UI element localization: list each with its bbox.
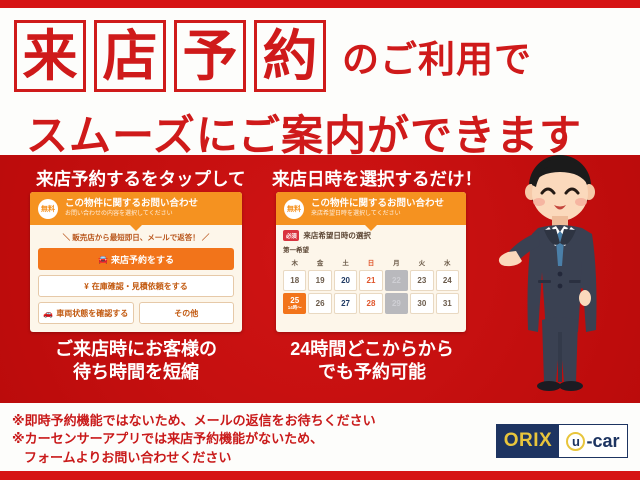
ucar-wordmark: u -car [559, 425, 627, 457]
calendar-day-number: 21 [367, 277, 376, 285]
calendar-body: 必須 来店希望日時の選択 第一希望 木金土日月火水181920212223242… [276, 225, 466, 314]
free-badge: 無料 [38, 199, 58, 219]
reserve-visit-button[interactable]: 🚘 来店予約をする [38, 248, 234, 270]
right-caption-line-2: でも予約可能 [262, 361, 482, 384]
calendar-day-cell[interactable]: 28 [359, 293, 382, 314]
inquiry-form-header: 無料 この物件に関するお問い合わせ お問い合わせの内容を選択してください [30, 192, 242, 225]
stock-quote-button-label: 在庫確認・見積依頼をする [92, 281, 188, 292]
calendar-day-number: 19 [316, 277, 325, 285]
calendar-day-cell[interactable]: 2514時〜 [283, 293, 306, 314]
calendar-day-number: 29 [392, 300, 401, 308]
calendar-day-number: 23 [417, 277, 426, 285]
headline-tail: のご利用で [342, 29, 532, 83]
calendar-weekday: 火 [410, 257, 433, 268]
free-badge: 無料 [284, 199, 304, 219]
top-red-rule [0, 0, 640, 8]
footer-note-line-2: ※カーセンサーアプリでは来店予約機能がないため、 [12, 430, 452, 448]
calendar-form-subtitle: 来店希望日時を選択してください [311, 211, 444, 218]
headline-row-1: 来 店 予 約 のご利用で [14, 20, 532, 92]
check-vehicle-condition-label: 車両状態を確認する [56, 308, 128, 319]
calendar-form-header-text: この物件に関するお問い合わせ 来店希望日時を選択してください [311, 199, 444, 218]
left-panel-heading: 来店予約するをタップして [36, 166, 245, 191]
footer-note-line-1: ※即時予約機能ではないため、メールの返信をお待ちください [12, 412, 452, 430]
visit-reservation-banner: 来 店 予 約 のご利用で スムーズにご案内ができます 来店予約するをタップして… [0, 0, 640, 480]
right-caption: 24時間どこからから でも予約可能 [262, 338, 482, 384]
calendar-weekday: 月 [385, 257, 408, 268]
inquiry-form-title: この物件に関するお問い合わせ [65, 199, 198, 210]
calendar-form-title: この物件に関するお問い合わせ [311, 199, 444, 210]
calendar-day-number: 26 [316, 300, 325, 308]
kanji-box-4: 約 [254, 20, 326, 92]
left-caption: ご来店時にお客様の 待ち時間を短縮 [16, 338, 256, 384]
kanji-box-1: 来 [14, 20, 86, 92]
calendar-grid: 木金土日月火水181920212223242514時〜262728293031 [283, 257, 459, 314]
kanji-box-3: 予 [174, 20, 246, 92]
calendar-day-cell[interactable]: 30 [410, 293, 433, 314]
other-button[interactable]: その他 [139, 302, 235, 324]
car-icon: 🚘 [98, 255, 108, 264]
calendar-day-cell[interactable]: 19 [308, 270, 331, 291]
calendar-mockup: 無料 この物件に関するお問い合わせ 来店希望日時を選択してください 必須 来店希… [276, 192, 466, 332]
kanji-box-2: 店 [94, 20, 166, 92]
calendar-section-title: 必須 来店希望日時の選択 [283, 230, 459, 241]
required-badge: 必須 [283, 230, 299, 241]
calendar-weekday: 日 [359, 257, 382, 268]
calendar-weekday: 木 [283, 257, 306, 268]
right-caption-line-1: 24時間どこからから [262, 338, 482, 361]
calendar-day-number: 25 [290, 297, 299, 305]
left-caption-line-2: 待ち時間を短縮 [16, 361, 256, 384]
calendar-day-number: 27 [341, 300, 350, 308]
inquiry-form-header-text: この物件に関するお問い合わせ お問い合わせの内容を選択してください [65, 199, 198, 218]
check-vehicle-condition-button[interactable]: 🚗 車両状態を確認する [38, 302, 134, 324]
yen-icon: ¥ [84, 282, 88, 291]
footer-note: ※即時予約機能ではないため、メールの返信をお待ちください ※カーセンサーアプリで… [12, 412, 452, 467]
calendar-day-number: 28 [367, 300, 376, 308]
first-choice-label: 第一希望 [283, 244, 459, 254]
calendar-day-cell[interactable]: 31 [436, 293, 459, 314]
calendar-section-title-label: 来店希望日時の選択 [303, 230, 371, 241]
calendar-day-number: 20 [341, 277, 350, 285]
orix-ucar-logo: ORIX u -car [496, 424, 628, 458]
stock-quote-button[interactable]: ¥ 在庫確認・見積依頼をする [38, 275, 234, 297]
inquiry-form-subtitle: お問い合わせの内容を選択してください [65, 211, 198, 218]
other-button-label: その他 [174, 308, 198, 319]
calendar-weekday: 水 [436, 257, 459, 268]
calendar-day-cell[interactable]: 26 [308, 293, 331, 314]
calendar-day-cell[interactable]: 22 [385, 270, 408, 291]
calendar-form-header: 無料 この物件に関するお問い合わせ 来店希望日時を選択してください [276, 192, 466, 225]
calendar-day-number: 30 [417, 300, 426, 308]
headline-block: 来 店 予 約 のご利用で スムーズにご案内ができます [0, 8, 640, 155]
ucar-text: -car [586, 431, 619, 452]
right-panel-heading: 来店日時を選択するだけ！ [272, 166, 482, 191]
calendar-day-cell[interactable]: 20 [334, 270, 357, 291]
calendar-day-cell[interactable]: 29 [385, 293, 408, 314]
bottom-red-rule [0, 471, 640, 480]
calendar-day-cell[interactable]: 27 [334, 293, 357, 314]
secondary-button-row: 🚗 車両状態を確認する その他 [38, 302, 234, 324]
calendar-weekday: 土 [334, 257, 357, 268]
calendar-day-number: 22 [392, 277, 401, 285]
calendar-day-cell[interactable]: 23 [410, 270, 433, 291]
left-caption-line-1: ご来店時にお客様の [16, 338, 256, 361]
car-icon: 🚗 [43, 309, 53, 318]
orix-wordmark: ORIX [497, 425, 559, 457]
footer-note-line-3: フォームよりお問い合わせください [12, 449, 452, 467]
calendar-day-cell[interactable]: 18 [283, 270, 306, 291]
calendar-day-number: 31 [443, 300, 452, 308]
calendar-day-number: 24 [443, 277, 452, 285]
reserve-visit-button-label: 来店予約をする [111, 253, 174, 266]
u-ring-icon: u [566, 432, 585, 451]
calendar-day-number: 18 [290, 277, 299, 285]
calendar-day-cell[interactable]: 24 [436, 270, 459, 291]
inquiry-form-mockup: 無料 この物件に関するお問い合わせ お問い合わせの内容を選択してください ＼ 販… [30, 192, 242, 332]
calendar-weekday: 金 [308, 257, 331, 268]
calendar-day-cell[interactable]: 21 [359, 270, 382, 291]
calendar-day-time: 14時〜 [288, 306, 302, 311]
salesman-illustration [498, 152, 622, 404]
